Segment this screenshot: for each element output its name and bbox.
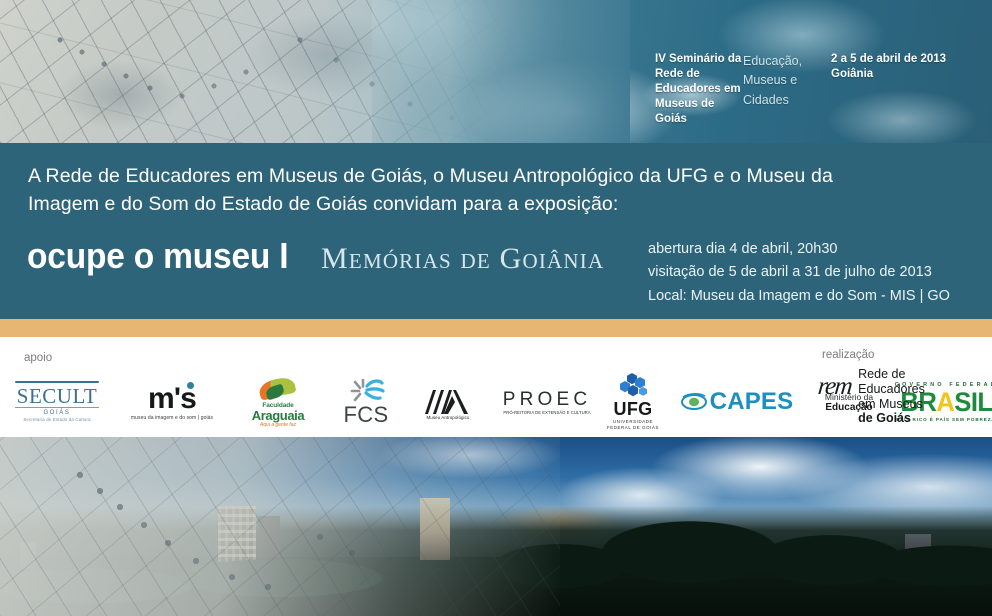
sponsor-logo-strip: apoio realização SECULT GOIÁS Secretaria… — [0, 337, 992, 437]
logo-capes: CAPES — [678, 388, 796, 416]
logo-mis: m's museu da imagem e do som | goiás — [118, 384, 226, 421]
museu-antropologico-label: Museu Antropológico — [427, 415, 470, 420]
araguaia-tagline: Aqui a gente faz — [260, 422, 296, 428]
venue-info-line: Local: Museu da Imagem e do Som - MIS | … — [648, 285, 950, 308]
araguaia-leaf-icon — [257, 377, 299, 401]
ufg-fullname: UNIVERSIDADE FEDERAL DE GOIÁS — [604, 419, 662, 431]
header-text-group: IV Seminário da Rede de Educadores em Mu… — [655, 52, 985, 142]
seminar-date-place-text: 2 a 5 de abril de 2013 Goiânia — [831, 52, 951, 142]
rem-line1: Rede de — [858, 367, 925, 382]
logo-proec: PROEC PRÓ-REITORIA DE EXTENSÃO E CULTURA — [494, 390, 600, 415]
logo-secult: SECULT GOIÁS Secretaria de Estado da Cul… — [14, 382, 100, 422]
logo-ufg: UFG UNIVERSIDADE FEDERAL DE GOIÁS — [604, 373, 662, 431]
museu-antropologico-icon — [423, 384, 473, 414]
rem-line2: Educadores — [858, 382, 925, 397]
seminar-theme-text: Educação, Museus e Cidades — [743, 52, 831, 142]
mis-tagline: museu da imagem e do som | goiás — [131, 415, 213, 421]
proec-tagline: PRÓ-REITORIA DE EXTENSÃO E CULTURA — [503, 410, 590, 415]
proec-wordmark: PROEC — [503, 390, 592, 409]
secult-state-label: GOIÁS — [43, 410, 70, 416]
fcs-wordmark: FCS — [344, 404, 389, 426]
rem-line4: de Goiás — [858, 411, 925, 426]
secult-wordmark: SECULT — [13, 382, 101, 409]
apoio-label: apoio — [24, 352, 52, 364]
logo-museu-antropologico: Museu Antropológico — [412, 384, 484, 420]
rem-line3: em Museus — [858, 397, 925, 412]
secult-tagline: Secretaria de Estado da Cultura — [23, 417, 90, 422]
mis-dot-icon — [187, 382, 194, 389]
mis-wordmark: m's — [148, 384, 196, 414]
invitation-paragraph: A Rede de Educadores em Museus de Goiás,… — [28, 162, 908, 219]
logo-rem: rem Rede de Educadores em Museus de Goiá… — [818, 367, 925, 426]
opening-info-line: abertura dia 4 de abril, 20h30 — [648, 238, 950, 261]
visitation-info-line: visitação de 5 de abril a 31 de julho de… — [648, 261, 950, 284]
seminar-title-text: IV Seminário da Rede de Educadores em Mu… — [655, 52, 743, 142]
rem-name-lines: Rede de Educadores em Museus de Goiás — [858, 367, 925, 426]
exhibition-title-main: ocupe o museu I — [27, 235, 288, 277]
map-overlay-image — [0, 437, 560, 616]
brasil-wordmark-sil: SIL — [954, 387, 992, 417]
logo-fcs: FCS — [334, 378, 398, 426]
ufg-hexagon-icon — [615, 373, 651, 399]
header-image-band: IV Seminário da Rede de Educadores em Mu… — [0, 0, 992, 143]
orange-divider-band — [0, 319, 992, 337]
capes-wordmark: CAPES — [710, 388, 794, 416]
rem-handwritten-mark: rem — [817, 374, 853, 399]
brasil-wordmark-a: A — [936, 387, 954, 417]
exhibition-info-block: abertura dia 4 de abril, 20h30 visitação… — [648, 238, 950, 308]
logo-faculdade-araguaia: Faculdade Araguaia Aqui a gente faz — [240, 377, 316, 428]
capes-eye-icon — [681, 392, 707, 412]
header-gradient-overlay — [300, 0, 630, 143]
fcs-burst-icon — [346, 378, 386, 404]
realizacao-label: realização — [822, 349, 874, 361]
exhibition-title-subtitle: Memórias de Goiânia — [321, 242, 604, 276]
exhibition-title-row: ocupe o museu I Memórias de Goiânia — [27, 235, 604, 277]
ufg-wordmark: UFG — [614, 400, 653, 418]
bottom-cityscape-photo — [0, 437, 992, 616]
poster-canvas: IV Seminário da Rede de Educadores em Mu… — [0, 0, 992, 616]
araguaia-line2: Araguaia — [252, 409, 304, 422]
